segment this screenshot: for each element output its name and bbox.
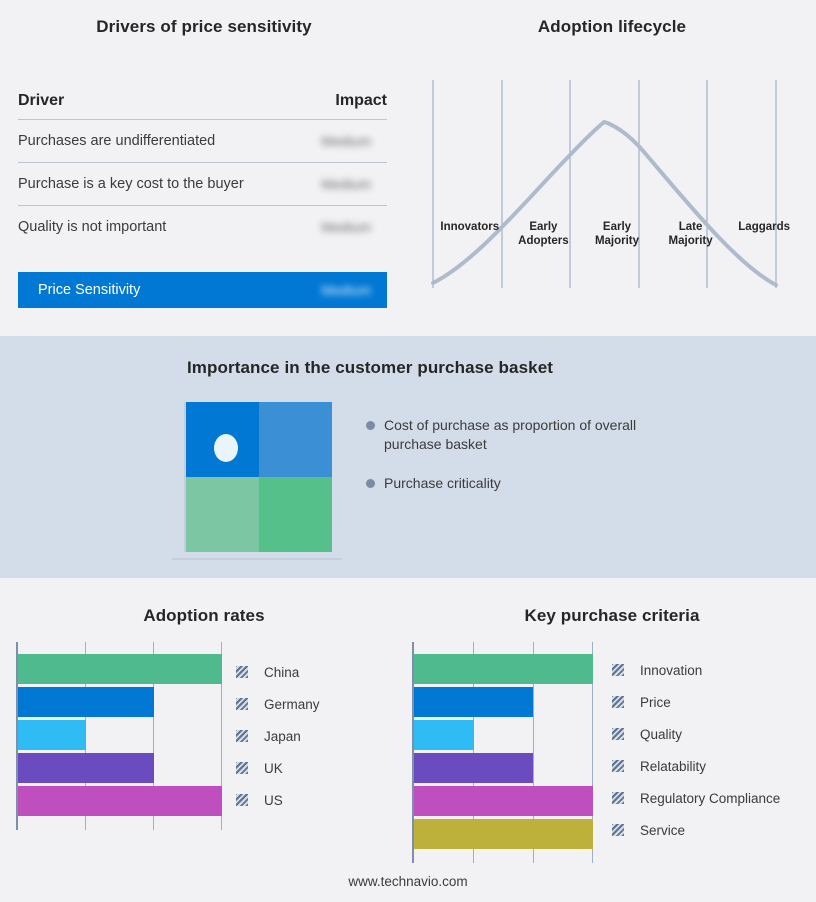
list-item: Japan xyxy=(236,720,320,752)
lifecycle-segment-early-adopters: Early Adopters xyxy=(507,220,581,248)
hatch-swatch-icon xyxy=(236,794,248,806)
legend-label: Regulatory Compliance xyxy=(640,791,780,806)
lifecycle-segment-laggards: Laggards xyxy=(727,220,801,248)
legend-label: Germany xyxy=(264,697,320,712)
impact-value-redacted: Medium xyxy=(321,133,387,149)
adoption-rates-title: Adoption rates xyxy=(0,606,408,626)
matrix-baseline-axis xyxy=(172,558,342,560)
price-sensitivity-summary-row: Price Sensitivity Medium xyxy=(18,272,387,308)
price-sensitivity-label: Price Sensitivity xyxy=(18,282,140,298)
list-item: Germany xyxy=(236,688,320,720)
column-header-driver: Driver xyxy=(18,92,64,110)
bar-quality xyxy=(414,720,474,750)
hatch-swatch-icon xyxy=(236,666,248,678)
driver-label: Purchases are undifferentiated xyxy=(18,133,215,149)
key-purchase-criteria-panel: Key purchase criteria Innovation xyxy=(408,578,816,902)
list-item: US xyxy=(236,784,320,816)
legend-label: Price xyxy=(640,695,671,710)
hatch-swatch-icon xyxy=(236,730,248,742)
drivers-table-header: Driver Impact xyxy=(18,92,387,120)
drivers-title: Drivers of price sensitivity xyxy=(0,17,408,37)
adoption-rates-panel: Adoption rates China Germany xyxy=(0,578,408,902)
price-sensitivity-impact-redacted: Medium xyxy=(321,282,387,298)
bar-price xyxy=(414,687,533,717)
table-row: Purchases are undifferentiated Medium xyxy=(18,120,387,163)
legend-label: US xyxy=(264,793,283,808)
hatch-swatch-icon xyxy=(612,824,624,836)
lifecycle-segment-labels: Innovators Early Adopters Early Majority… xyxy=(433,220,801,248)
legend-label: Quality xyxy=(640,727,682,742)
adoption-rates-legend: China Germany Japan UK US xyxy=(236,656,320,816)
key-purchase-criteria-title: Key purchase criteria xyxy=(408,606,816,626)
plot-area xyxy=(16,642,223,830)
list-item: Quality xyxy=(612,718,780,750)
adoption-lifecycle-chart: Innovators Early Adopters Early Majority… xyxy=(408,60,816,310)
legend-label: Relatability xyxy=(640,759,706,774)
table-row: Purchase is a key cost to the buyer Medi… xyxy=(18,163,387,206)
bullet-icon xyxy=(366,479,375,488)
bar-japan xyxy=(18,720,86,750)
list-item: Regulatory Compliance xyxy=(612,782,780,814)
segment-line-2: Majority xyxy=(654,234,728,248)
matrix-quadrant-bottom-right xyxy=(259,477,332,552)
bar-service xyxy=(414,819,593,849)
bar-germany xyxy=(18,687,154,717)
key-purchase-criteria-legend: Innovation Price Quality Relatability Re… xyxy=(612,654,780,846)
importance-legend: Cost of purchase as proportion of overal… xyxy=(366,416,696,513)
legend-label: Innovation xyxy=(640,663,702,678)
segment-line-2: Laggards xyxy=(727,220,801,234)
bar-china xyxy=(18,654,222,684)
hatch-swatch-icon xyxy=(236,762,248,774)
infographic-page: Drivers of price sensitivity Driver Impa… xyxy=(0,0,816,902)
bar-innovation xyxy=(414,654,593,684)
list-item: Price xyxy=(612,686,780,718)
impact-value-redacted: Medium xyxy=(321,176,387,192)
lifecycle-bell-curve xyxy=(433,122,776,285)
hatch-swatch-icon xyxy=(612,696,624,708)
segment-line-1: Early xyxy=(507,220,581,234)
list-item: Relatability xyxy=(612,750,780,782)
importance-legend-label: Purchase criticality xyxy=(384,474,501,493)
segment-line-2: Adopters xyxy=(507,234,581,248)
segment-line-1: Late xyxy=(654,220,728,234)
segment-line-2: Innovators xyxy=(433,220,507,234)
hatch-swatch-icon xyxy=(612,792,624,804)
bar-us xyxy=(18,786,222,816)
drivers-table: Driver Impact Purchases are undifferenti… xyxy=(18,92,387,248)
list-item: Innovation xyxy=(612,654,780,686)
lifecycle-segment-early-majority: Early Majority xyxy=(580,220,654,248)
legend-label: UK xyxy=(264,761,283,776)
importance-title: Importance in the customer purchase bask… xyxy=(0,358,740,378)
importance-legend-label: Cost of purchase as proportion of overal… xyxy=(384,416,696,454)
matrix-position-marker xyxy=(214,434,238,462)
driver-label: Quality is not important xyxy=(18,219,166,235)
table-row: Quality is not important Medium xyxy=(18,206,387,248)
bullet-icon xyxy=(366,421,375,430)
legend-label: Service xyxy=(640,823,685,838)
list-item: UK xyxy=(236,752,320,784)
bar-relatability xyxy=(414,753,533,783)
matrix-quadrant-top-right xyxy=(259,402,332,477)
hatch-swatch-icon xyxy=(612,760,624,772)
plot-area xyxy=(412,642,594,863)
segment-line-1: Early xyxy=(580,220,654,234)
column-header-impact: Impact xyxy=(335,92,387,110)
hatch-swatch-icon xyxy=(612,664,624,676)
hatch-swatch-icon xyxy=(612,728,624,740)
lifecycle-dividers xyxy=(433,80,776,288)
footer-url: www.technavio.com xyxy=(0,874,816,889)
impact-value-redacted: Medium xyxy=(321,219,387,235)
lifecycle-segment-late-majority: Late Majority xyxy=(654,220,728,248)
hatch-swatch-icon xyxy=(236,698,248,710)
matrix-quadrant-top-left xyxy=(186,402,259,477)
list-item: China xyxy=(236,656,320,688)
adoption-rates-chart xyxy=(16,642,222,830)
bar-uk xyxy=(18,753,154,783)
key-purchase-criteria-chart xyxy=(412,642,602,863)
adoption-lifecycle-panel: Adoption lifecycle Innovators xyxy=(408,0,816,336)
matrix-quadrant-bottom-left xyxy=(186,477,259,552)
drivers-panel: Drivers of price sensitivity Driver Impa… xyxy=(0,0,408,336)
legend-label: China xyxy=(264,665,299,680)
adoption-lifecycle-title: Adoption lifecycle xyxy=(408,17,816,37)
lifecycle-segment-innovators: Innovators xyxy=(433,220,507,248)
legend-label: Japan xyxy=(264,729,301,744)
driver-label: Purchase is a key cost to the buyer xyxy=(18,176,244,192)
segment-line-2: Majority xyxy=(580,234,654,248)
bar-regulatory-compliance xyxy=(414,786,593,816)
list-item: Purchase criticality xyxy=(366,474,696,493)
adoption-lifecycle-svg xyxy=(408,60,816,310)
importance-matrix xyxy=(184,402,332,552)
list-item: Cost of purchase as proportion of overal… xyxy=(366,416,696,454)
list-item: Service xyxy=(612,814,780,846)
